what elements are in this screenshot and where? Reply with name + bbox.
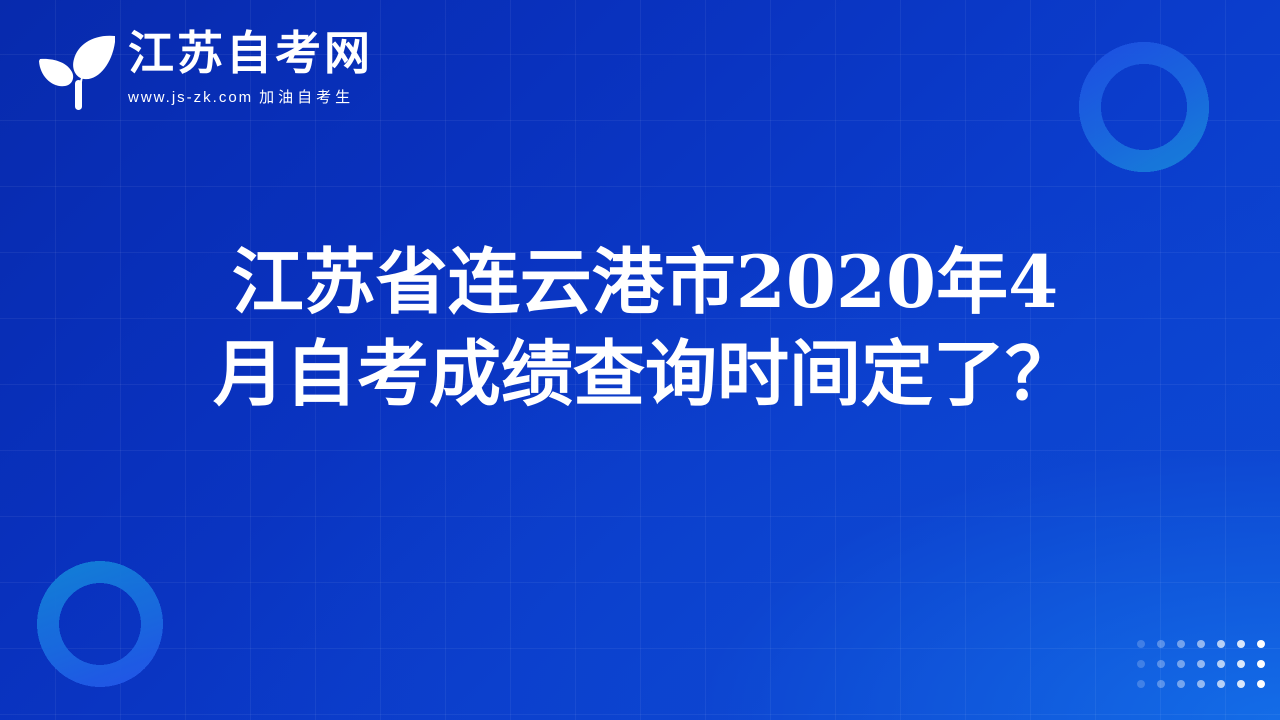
dot bbox=[1137, 640, 1145, 648]
decorative-ring-bottom-left bbox=[10, 536, 190, 712]
page-title: 江苏省连云港市2020年4月自考成绩查询时间定了？ bbox=[200, 236, 1090, 420]
dot bbox=[1237, 640, 1245, 648]
dot bbox=[1157, 660, 1165, 668]
dot bbox=[1257, 660, 1265, 668]
dot bbox=[1217, 660, 1225, 668]
dot bbox=[1237, 660, 1245, 668]
dot bbox=[1197, 660, 1205, 668]
dot bbox=[1137, 680, 1145, 688]
brand-slogan: 加油自考生 bbox=[259, 89, 354, 106]
sprout-leaf-icon bbox=[34, 28, 122, 112]
brand-tagline: www.js-zk.com加油自考生 bbox=[128, 90, 354, 105]
dot bbox=[1157, 680, 1165, 688]
decorative-dot-grid bbox=[1131, 634, 1271, 694]
dot bbox=[1257, 680, 1265, 688]
dot bbox=[1197, 680, 1205, 688]
dot bbox=[1177, 660, 1185, 668]
dot bbox=[1217, 680, 1225, 688]
dot bbox=[1177, 640, 1185, 648]
dot bbox=[1237, 680, 1245, 688]
brand-website: www.js-zk.com bbox=[128, 89, 253, 106]
poster-canvas: 江苏自考网 www.js-zk.com加油自考生 江苏省连云港市2020年4月自… bbox=[0, 0, 1280, 720]
dot bbox=[1197, 640, 1205, 648]
dot bbox=[1137, 660, 1145, 668]
site-logo[interactable]: 江苏自考网 www.js-zk.com加油自考生 bbox=[34, 24, 373, 112]
dot bbox=[1217, 640, 1225, 648]
dot bbox=[1177, 680, 1185, 688]
brand-name: 江苏自考网 bbox=[128, 24, 373, 76]
decorative-ring-top-right bbox=[1053, 14, 1235, 200]
dot bbox=[1157, 640, 1165, 648]
dot bbox=[1257, 640, 1265, 648]
